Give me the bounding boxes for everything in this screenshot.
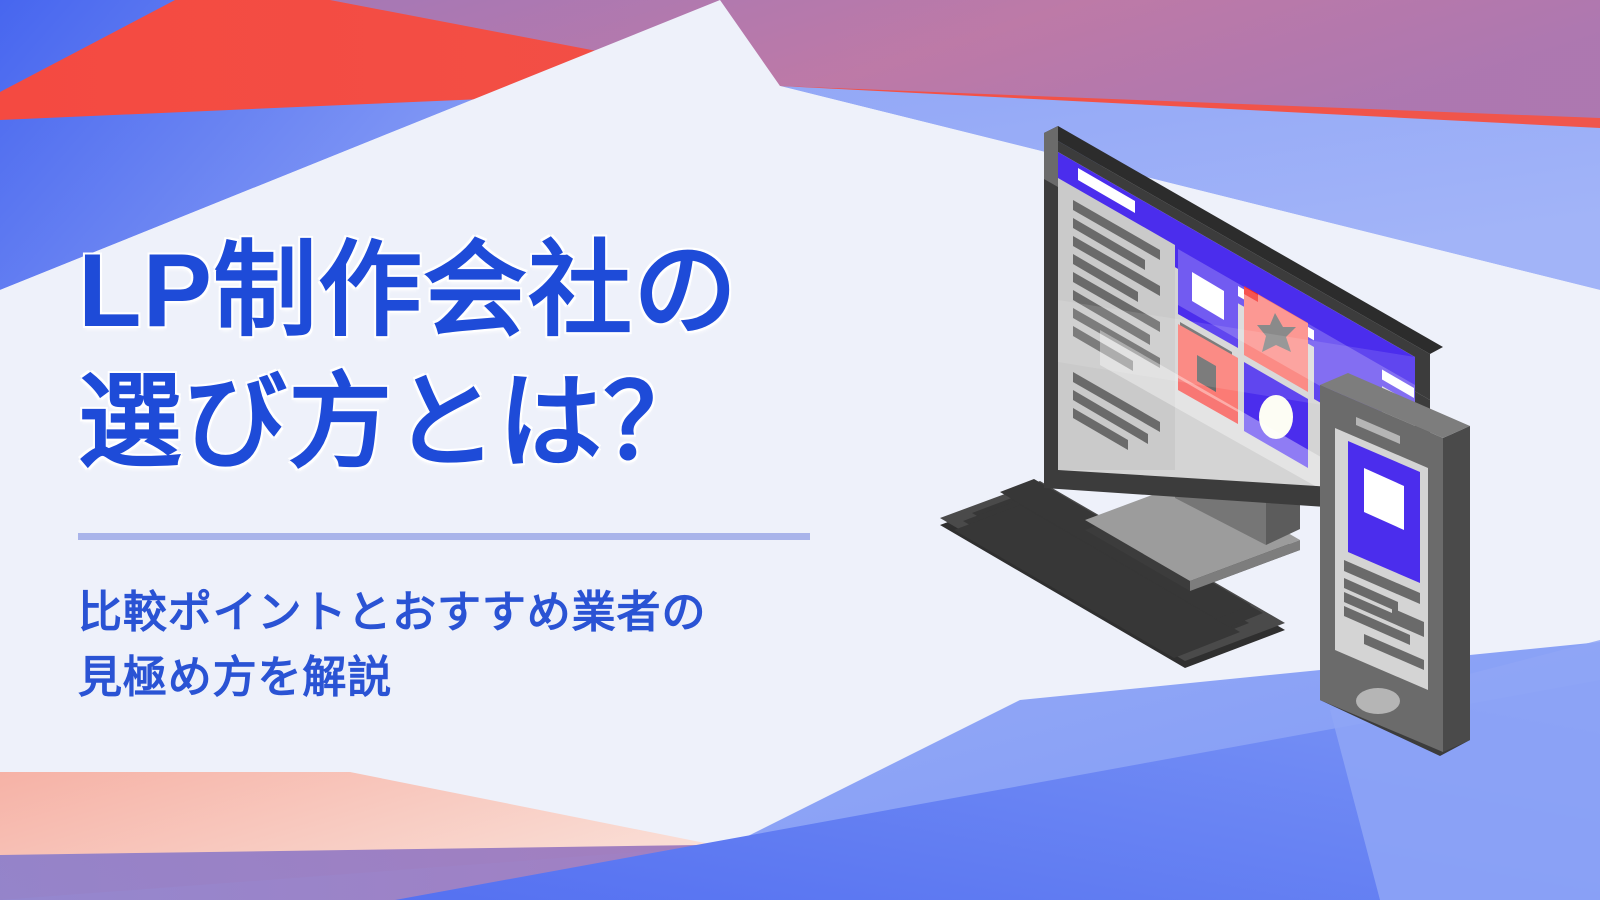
title-divider [78,533,810,540]
page-title-line1: LP制作会社の [78,222,1018,360]
phone-home-button [1356,688,1400,714]
banner-root: LP制作会社の 選び方とは？ 比較ポイントとおすすめ業者の 見極め方を解説 [0,0,1600,900]
phone-frame-side [1443,426,1470,752]
subtitle-line1: 比較ポイントとおすすめ業者の [78,580,938,645]
page-title-line2: 選び方とは？ [78,354,1018,492]
headline-block: LP制作会社の 選び方とは？ [78,222,1018,493]
subheadline-block: 比較ポイントとおすすめ業者の 見極め方を解説 [78,580,938,710]
subtitle-line2: 見極め方を解説 [78,645,938,710]
smartphone [1320,373,1470,756]
